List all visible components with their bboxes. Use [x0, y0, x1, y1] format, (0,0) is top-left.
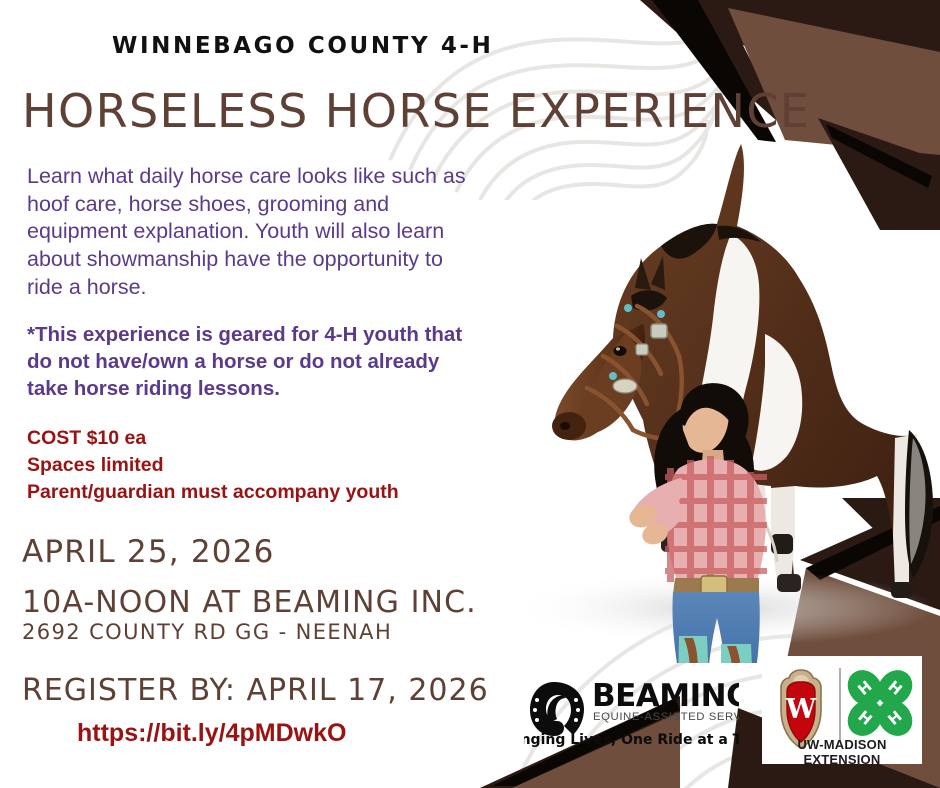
- beaming-subtitle: EQUINE-ASSISTED SERVICES: [593, 711, 739, 723]
- page-title: HORSELESS HORSE EXPERIENCE: [22, 84, 810, 138]
- uw-extension-caption: UW-MADISON EXTENSION: [762, 737, 922, 767]
- beaming-tagline: Changing Lives, One Ride at a Time: [524, 732, 739, 748]
- uw-crest-letter: W: [785, 694, 817, 725]
- registration-link[interactable]: https://bit.ly/4pMDwkO: [77, 719, 346, 748]
- poster-eyebrow: WINNEBAGO COUNTY 4-H: [112, 33, 493, 59]
- register-deadline: REGISTER BY: APRIL 17, 2026: [22, 673, 489, 708]
- beaming-logo: BEAMING EQUINE-ASSISTED SERVICES Changin…: [524, 668, 739, 758]
- poster-canvas: WINNEBAGO COUNTY 4-H HORSELESS HORSE EXP…: [0, 0, 940, 788]
- event-date: APRIL 25, 2026: [22, 534, 275, 570]
- cost-line: Parent/guardian must accompany youth: [27, 479, 487, 506]
- event-address: 2692 COUNTY RD GG - NEENAH: [22, 620, 392, 644]
- cost-line: COST $10 ea: [27, 425, 487, 452]
- cost-line: Spaces limited: [27, 452, 487, 479]
- cost-details: COST $10 ea Spaces limited Parent/guardi…: [27, 425, 487, 506]
- horseshoe-horse-head-icon: [530, 682, 584, 736]
- intro-paragraph: Learn what daily horse care looks like s…: [27, 163, 477, 302]
- eligibility-note: *This experience is geared for 4-H youth…: [27, 321, 477, 402]
- beaming-wordmark: BEAMING: [592, 678, 739, 714]
- event-time-venue: 10A-NOON AT BEAMING INC.: [22, 585, 477, 620]
